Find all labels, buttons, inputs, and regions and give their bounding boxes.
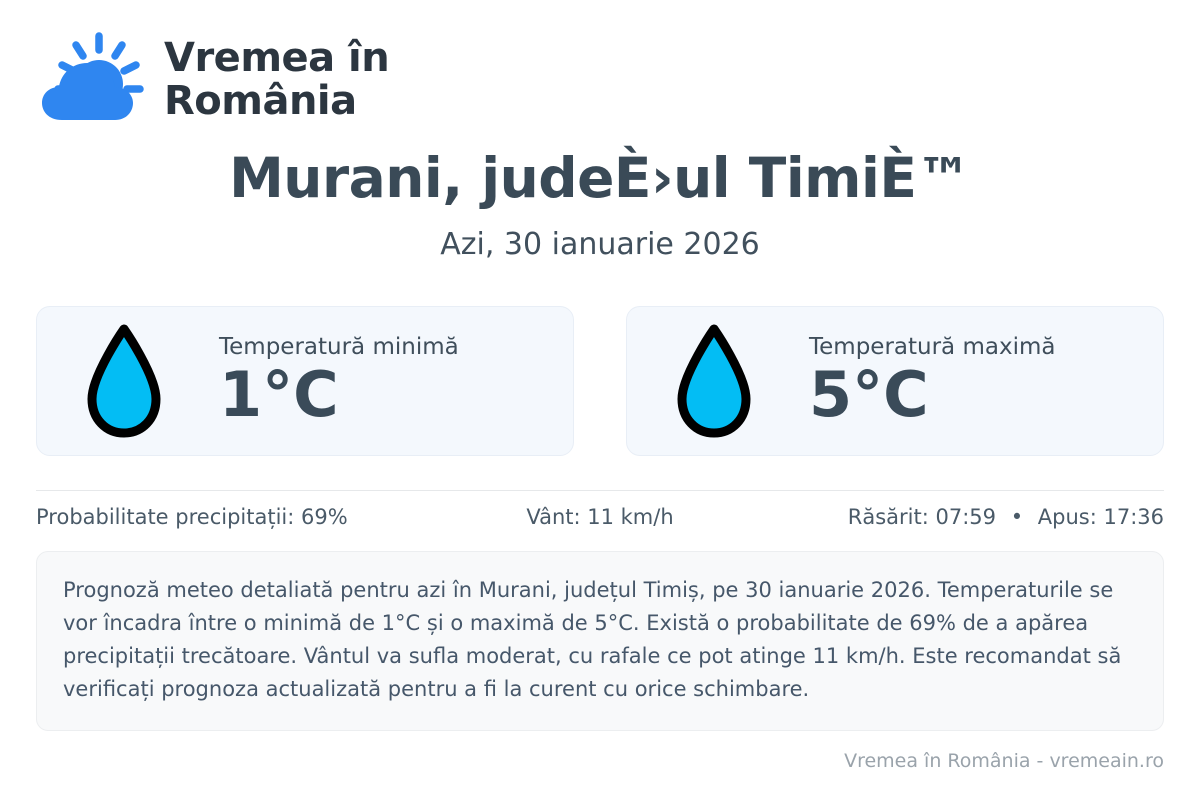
title-block: Murani, judeÈ›ul TimiÈ™ Azi, 30 ianuarie… — [36, 148, 1164, 262]
page-title: Murani, judeÈ›ul TimiÈ™ — [36, 148, 1164, 209]
brand-name: Vremea în România — [164, 37, 389, 123]
card-temperature-max: Temperatură maximă 5°C — [626, 306, 1164, 456]
weather-page: Vremea în România Murani, judeÈ›ul TimiÈ… — [0, 0, 1200, 800]
water-drop-icon — [85, 323, 163, 439]
water-drop-icon — [675, 323, 753, 439]
stat-sunset: Apus: 17:36 — [1038, 505, 1164, 529]
stat-sun-times: Răsărit: 07:59 • Apus: 17:36 — [788, 505, 1164, 529]
page-subtitle: Azi, 30 ianuarie 2026 — [36, 227, 1164, 262]
card-label: Temperatură minimă — [197, 334, 459, 360]
stats-row: Probabilitate precipitații: 69% Vânt: 11… — [36, 491, 1164, 543]
card-texts: Temperatură maximă 5°C — [787, 334, 1055, 427]
card-temperature-min: Temperatură minimă 1°C — [36, 306, 574, 456]
stat-precipitation: Probabilitate precipitații: 69% — [36, 505, 412, 529]
stat-sunrise: Răsărit: 07:59 — [848, 505, 996, 529]
card-texts: Temperatură minimă 1°C — [197, 334, 459, 427]
stat-separator: • — [1003, 505, 1031, 529]
card-label: Temperatură maximă — [787, 334, 1055, 360]
site-brand[interactable]: Vremea în România — [36, 0, 1164, 110]
card-value: 5°C — [787, 362, 929, 427]
footer-attribution: Vremea în România - vremeain.ro — [844, 750, 1164, 772]
sun-behind-cloud-icon — [36, 32, 146, 128]
card-value: 1°C — [197, 362, 339, 427]
forecast-description: Prognoză meteo detaliată pentru azi în M… — [36, 551, 1164, 732]
stat-wind: Vânt: 11 km/h — [412, 505, 788, 529]
temperature-cards: Temperatură minimă 1°C Temperatură maxim… — [36, 306, 1164, 456]
